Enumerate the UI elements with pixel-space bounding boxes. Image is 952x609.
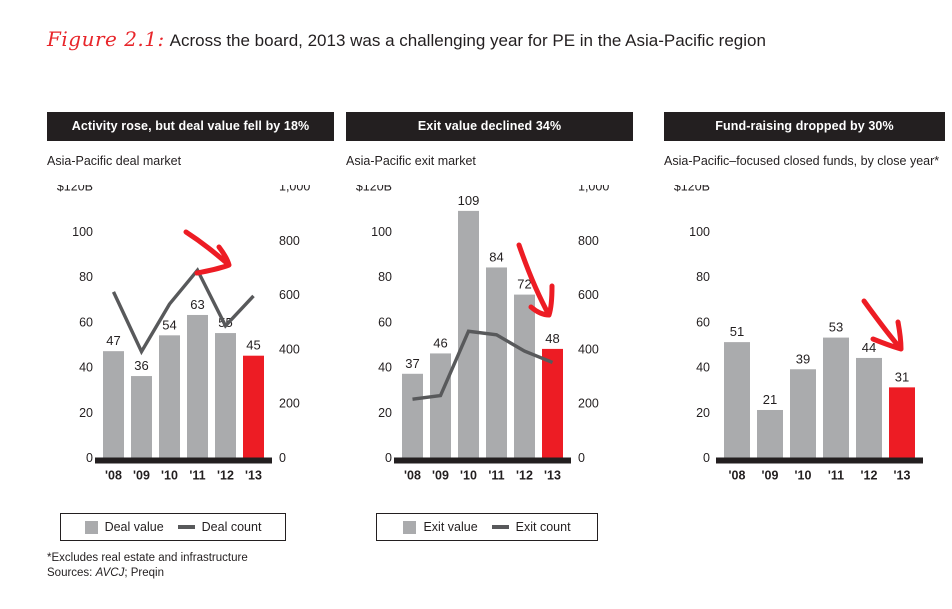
y-axis-tick-label-left: 0 [86, 451, 93, 465]
chart-svg-1: 020406080100$120B02004006008001,00047365… [47, 185, 334, 500]
y-axis-tick-label-right: 400 [279, 342, 300, 356]
chart-svg-3: 020406080100$120B512139534431'08'09'10'1… [655, 185, 945, 500]
page-title: Figure 2.1: Across the board, 2013 was a… [47, 27, 766, 53]
legend-item-deal-value: Deal value [85, 520, 164, 534]
y-axis-tick-label-right: 0 [578, 451, 585, 465]
y-axis-tick-label-left: 80 [696, 270, 710, 284]
legend-deal: Deal value Deal count [60, 513, 286, 541]
bar-value-label: 84 [489, 249, 503, 264]
panel-header-3: Fund-raising dropped by 30% [664, 112, 945, 141]
x-axis-baseline [394, 458, 571, 464]
y-axis-tick-label-left: 80 [79, 270, 93, 284]
footnote-excludes: *Excludes real estate and infrastructure [47, 551, 248, 566]
y-axis-tick-label-left: 40 [79, 361, 93, 375]
y-axis-tick-label-left: 60 [79, 315, 93, 329]
x-axis-category-label: '12 [217, 469, 234, 483]
y-axis-tick-label-left: 20 [79, 406, 93, 420]
bar [486, 267, 507, 457]
red-down-arrow-icon [186, 232, 229, 273]
plot-area-1: 020406080100$120B02004006008001,00047365… [47, 185, 334, 500]
legend-label-deal-value: Deal value [105, 520, 164, 534]
y-axis-tick-label-left: 60 [696, 315, 710, 329]
y-axis-tick-label-right: 1,000 [578, 185, 609, 194]
y-axis-tick-label-right: 600 [279, 288, 300, 302]
legend-exit: Exit value Exit count [376, 513, 598, 541]
legend-label-exit-count: Exit count [516, 520, 571, 534]
x-axis-category-label: '13 [894, 469, 911, 483]
bar-value-label: 37 [405, 356, 419, 371]
x-axis-category-label: '09 [762, 469, 779, 483]
footnotes: *Excludes real estate and infrastructure… [47, 551, 248, 581]
bar-value-label: 46 [433, 335, 447, 350]
x-axis-category-label: '11 [828, 469, 844, 483]
y-axis-tick-label-right: 800 [279, 234, 300, 248]
bar [757, 410, 783, 458]
x-axis-category-label: '12 [861, 469, 878, 483]
figure-number: Figure 2.1: [47, 27, 165, 51]
y-axis-tick-label-right: 200 [279, 397, 300, 411]
bar [889, 387, 915, 457]
bar-value-label: 48 [545, 331, 559, 346]
bar [103, 351, 124, 457]
bar [790, 369, 816, 457]
chart-panel-deal-market: Activity rose, but deal value fell by 18… [47, 112, 334, 500]
y-axis-tick-label-left: 20 [378, 406, 392, 420]
bar-value-label: 31 [895, 369, 909, 384]
bar-value-label: 47 [106, 333, 120, 348]
panel-header-2: Exit value declined 34% [346, 112, 633, 141]
y-axis-tick-label-left: 80 [378, 270, 392, 284]
y-axis-tick-label-right: 200 [578, 397, 599, 411]
line-swatch-icon [492, 525, 509, 529]
bar [724, 342, 750, 457]
bar-value-label: 63 [190, 297, 204, 312]
sources-prefix: Sources: [47, 567, 96, 579]
x-axis-category-label: '08 [404, 469, 421, 483]
bar-value-label: 39 [796, 351, 810, 366]
x-axis-category-label: '10 [161, 469, 178, 483]
bar [514, 295, 535, 458]
panel-subtitle-1: Asia-Pacific deal market [47, 153, 334, 169]
bar [402, 374, 423, 458]
x-axis-category-label: '08 [729, 469, 746, 483]
x-axis-baseline [716, 458, 923, 464]
y-axis-tick-label-left: $120B [356, 185, 392, 194]
legend-label-exit-value: Exit value [423, 520, 477, 534]
x-axis-category-label: '11 [488, 469, 504, 483]
bar [215, 333, 236, 457]
y-axis-tick-label-right: 0 [279, 451, 286, 465]
bar [243, 356, 264, 458]
bar [430, 353, 451, 457]
x-axis-baseline [95, 458, 272, 464]
y-axis-tick-label-left: 100 [72, 225, 93, 239]
y-axis-tick-label-left: 0 [385, 451, 392, 465]
plot-area-3: 020406080100$120B512139534431'08'09'10'1… [655, 185, 945, 500]
bar-value-label: 45 [246, 338, 260, 353]
bar-value-label: 54 [162, 317, 176, 332]
x-axis-category-label: '09 [432, 469, 449, 483]
bar-value-label: 36 [134, 358, 148, 373]
bar [187, 315, 208, 458]
bar-value-label: 109 [458, 193, 480, 208]
bar-value-label: 44 [862, 340, 876, 355]
bar-value-label: 21 [763, 392, 777, 407]
y-axis-tick-label-left: $120B [57, 185, 93, 194]
y-axis-tick-label-left: 60 [378, 315, 392, 329]
y-axis-tick-label-right: 400 [578, 342, 599, 356]
sources-rest: ; Preqin [124, 567, 164, 579]
y-axis-tick-label-right: 1,000 [279, 185, 310, 194]
panel-subtitle-3: Asia-Pacific–focused closed funds, by cl… [664, 153, 945, 169]
x-axis-category-label: '13 [544, 469, 561, 483]
bar [542, 349, 563, 458]
panel-subtitle-2: Asia-Pacific exit market [346, 153, 633, 169]
bar [159, 335, 180, 457]
panel-header-1: Activity rose, but deal value fell by 18… [47, 112, 334, 141]
bar-swatch-icon [403, 521, 416, 534]
bar-value-label: 53 [829, 320, 843, 335]
chart-panel-exit-market: Exit value declined 34% Asia-Pacific exi… [346, 112, 633, 500]
y-axis-tick-label-left: 0 [703, 451, 710, 465]
line-swatch-icon [178, 525, 195, 529]
y-axis-tick-label-right: 800 [578, 234, 599, 248]
y-axis-tick-label-right: 600 [578, 288, 599, 302]
x-axis-category-label: '12 [516, 469, 533, 483]
chart-svg-2: 020406080100$120B02004006008001,00037461… [346, 185, 633, 500]
x-axis-category-label: '08 [105, 469, 122, 483]
x-axis-category-label: '10 [460, 469, 477, 483]
bar [856, 358, 882, 458]
figure-title-text: Across the board, 2013 was a challenging… [170, 31, 766, 50]
x-axis-category-label: '09 [133, 469, 150, 483]
sources-avcj: AVCJ [96, 567, 125, 579]
x-axis-category-label: '11 [189, 469, 205, 483]
plot-area-2: 020406080100$120B02004006008001,00037461… [346, 185, 633, 500]
bar [131, 376, 152, 457]
legend-item-deal-count: Deal count [178, 520, 262, 534]
legend-label-deal-count: Deal count [202, 520, 262, 534]
legend-item-exit-count: Exit count [492, 520, 571, 534]
chart-panel-fund-raising: Fund-raising dropped by 30% Asia-Pacific… [655, 112, 945, 500]
y-axis-tick-label-left: 40 [378, 361, 392, 375]
footnote-sources: Sources: AVCJ; Preqin [47, 566, 248, 581]
legend-item-exit-value: Exit value [403, 520, 477, 534]
bar-swatch-icon [85, 521, 98, 534]
y-axis-tick-label-left: 20 [696, 406, 710, 420]
bar [823, 338, 849, 458]
y-axis-tick-label-left: 100 [689, 225, 710, 239]
x-axis-category-label: '13 [245, 469, 262, 483]
bar-value-label: 51 [730, 324, 744, 339]
y-axis-tick-label-left: 100 [371, 225, 392, 239]
y-axis-tick-label-left: 40 [696, 361, 710, 375]
x-axis-category-label: '10 [795, 469, 812, 483]
y-axis-tick-label-left: $120B [674, 185, 710, 194]
